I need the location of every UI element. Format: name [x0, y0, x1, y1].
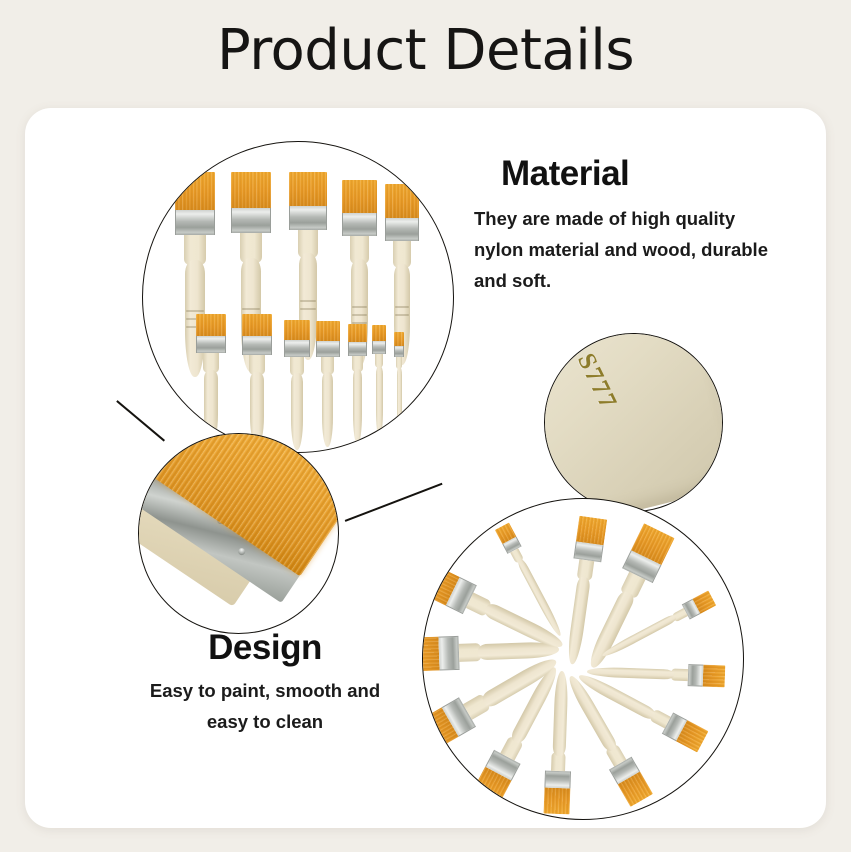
brush-small-7: [394, 332, 404, 436]
photo-radial-arrangement: [422, 498, 744, 820]
brush-small-3: [284, 320, 310, 450]
brush-small-1: [196, 314, 226, 444]
ferrule-rivet-2: [237, 547, 247, 557]
page-title: Product Details: [0, 18, 851, 83]
feature-design-body: Easy to paint, smooth and easy to clean: [130, 675, 400, 737]
feature-material: Material They are made of high quality n…: [474, 154, 774, 296]
feature-material-body: They are made of high quality nylon mate…: [474, 203, 774, 296]
bristle-macro-image: [139, 434, 338, 633]
brush-small-6: [372, 325, 386, 438]
brush-small-2: [242, 314, 272, 446]
feature-design-heading: Design: [130, 628, 400, 668]
photo-brush-lineup: [142, 141, 454, 453]
feature-material-heading: Material: [501, 154, 774, 194]
brush-small-5: [348, 324, 367, 444]
handle-end-surface: [544, 333, 723, 512]
feature-design: Design Easy to paint, smooth and easy to…: [130, 628, 400, 737]
product-details-card: S777: [25, 108, 826, 828]
photo-handle-brand-macro: S777: [544, 333, 723, 512]
brush-small-4: [316, 321, 340, 447]
leader-line-macro-to-radial: [345, 483, 443, 522]
photo-bristle-macro: [138, 433, 339, 634]
